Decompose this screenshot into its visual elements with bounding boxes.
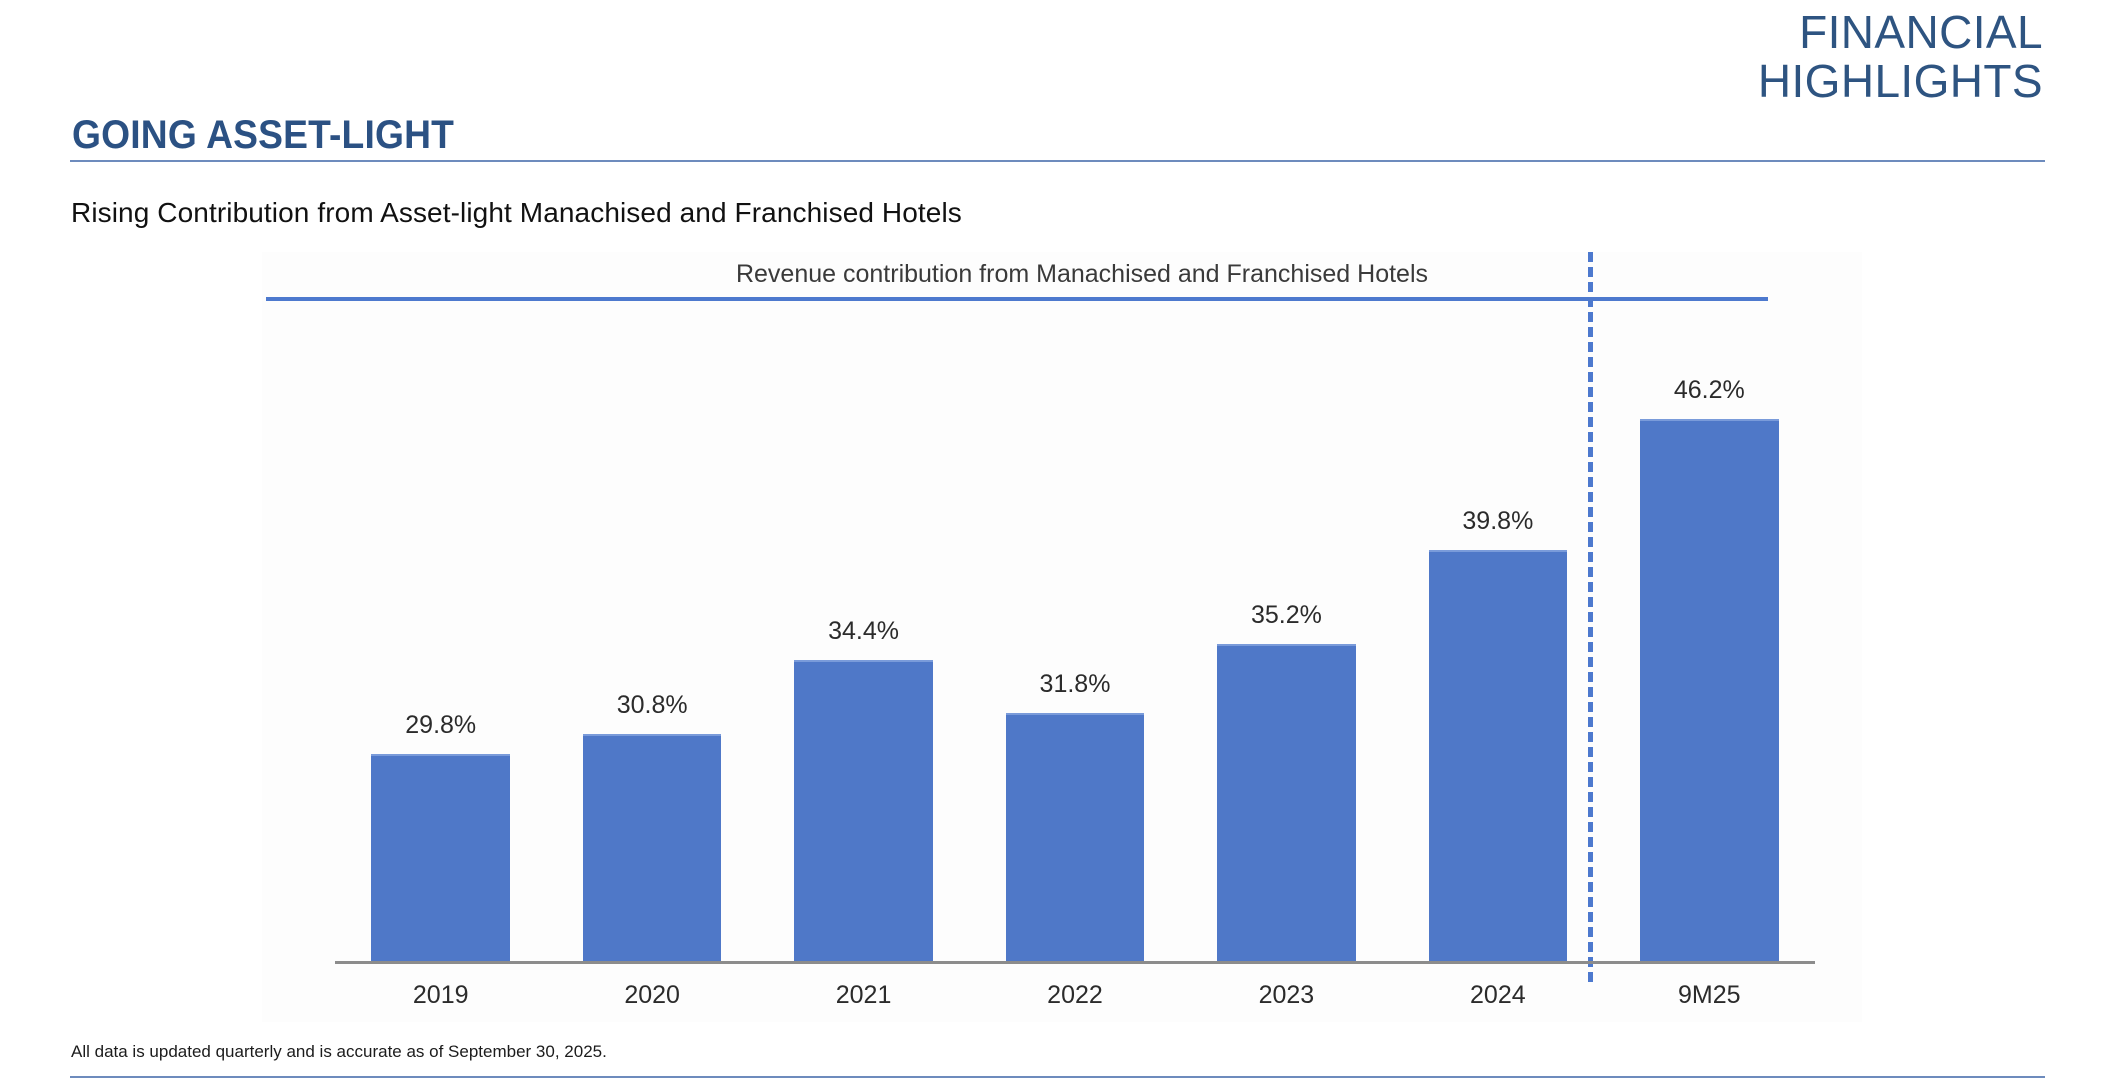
bar-group[interactable]: 31.8%2022 bbox=[1006, 670, 1144, 961]
section-subtitle: Rising Contribution from Asset-light Man… bbox=[71, 197, 962, 229]
bar-group[interactable]: 34.4%2021 bbox=[794, 617, 932, 961]
chart-card: Revenue contribution from Manachised and… bbox=[262, 252, 1862, 1022]
x-axis-tick-label: 2023 bbox=[1259, 981, 1315, 1010]
bar-rect[interactable] bbox=[1217, 644, 1355, 961]
bar-rect[interactable] bbox=[1640, 419, 1778, 961]
x-axis-tick-label: 9M25 bbox=[1678, 981, 1741, 1010]
bar-rect[interactable] bbox=[371, 754, 509, 961]
bar-value-label: 29.8% bbox=[405, 711, 476, 740]
page-title: GOING ASSET-LIGHT bbox=[72, 113, 454, 158]
bar-group[interactable]: 29.8%2019 bbox=[371, 711, 509, 961]
bar-rect[interactable] bbox=[1006, 713, 1144, 961]
footer-divider-rule bbox=[70, 1076, 2045, 1078]
bar-rect[interactable] bbox=[794, 660, 932, 961]
x-axis-tick-label: 2019 bbox=[413, 981, 469, 1010]
bar-value-label: 31.8% bbox=[1040, 670, 1111, 699]
bar-group[interactable]: 30.8%2020 bbox=[583, 691, 721, 961]
bar-group[interactable]: 46.2%9M25 bbox=[1640, 376, 1778, 961]
title-divider-rule bbox=[70, 160, 2045, 162]
x-axis-tick-label: 2020 bbox=[624, 981, 680, 1010]
bar-group[interactable]: 39.8%2024 bbox=[1429, 507, 1567, 961]
bar-chart-plot-area: 29.8%201930.8%202034.4%202131.8%202235.2… bbox=[335, 304, 1815, 964]
bar-value-label: 35.2% bbox=[1251, 601, 1322, 630]
footnote-text: All data is updated quarterly and is acc… bbox=[71, 1042, 607, 1062]
bar-value-label: 34.4% bbox=[828, 617, 899, 646]
header-band: FINANCIAL HIGHLIGHTS GOING ASSET-LIGHT bbox=[0, 0, 2113, 168]
x-axis-tick-label: 2024 bbox=[1470, 981, 1526, 1010]
bar-value-label: 46.2% bbox=[1674, 376, 1745, 405]
chart-title-underline bbox=[266, 297, 1768, 301]
forecast-divider-icon bbox=[1588, 252, 1593, 982]
x-axis-baseline bbox=[335, 961, 1815, 964]
bar-rect[interactable] bbox=[1429, 550, 1567, 961]
chart-title: Revenue contribution from Manachised and… bbox=[262, 260, 1862, 289]
deck-section-label: FINANCIAL HIGHLIGHTS bbox=[1758, 8, 2043, 106]
x-axis-tick-label: 2021 bbox=[836, 981, 892, 1010]
bar-group[interactable]: 35.2%2023 bbox=[1217, 601, 1355, 961]
bar-value-label: 30.8% bbox=[617, 691, 688, 720]
bar-rect[interactable] bbox=[583, 734, 721, 961]
bar-value-label: 39.8% bbox=[1462, 507, 1533, 536]
x-axis-tick-label: 2022 bbox=[1047, 981, 1103, 1010]
